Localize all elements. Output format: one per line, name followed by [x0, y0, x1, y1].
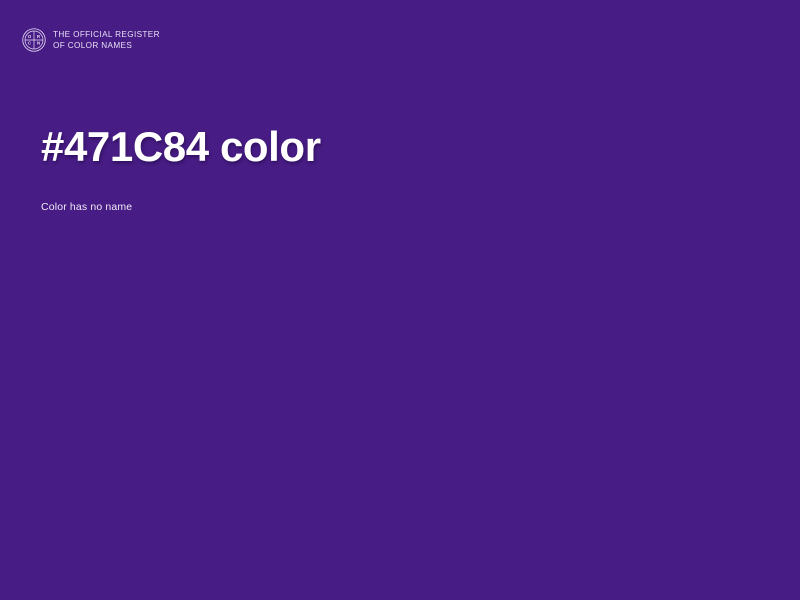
official-register-seal-icon: O R C N: [22, 28, 46, 52]
page-title: #471C84 color: [41, 122, 741, 172]
svg-text:N: N: [37, 41, 40, 46]
brand-line-1: THE OFFICIAL REGISTER: [53, 30, 160, 40]
brand-header[interactable]: O R C N THE OFFICIAL REGISTER OF COLOR N…: [22, 28, 160, 52]
color-page: O R C N THE OFFICIAL REGISTER OF COLOR N…: [0, 0, 800, 600]
svg-text:R: R: [37, 34, 40, 39]
color-name-status: Color has no name: [41, 172, 741, 214]
brand-line-2: OF COLOR NAMES: [53, 41, 160, 51]
color-info-block: #471C84 color Color has no name: [41, 122, 741, 214]
brand-wordmark: THE OFFICIAL REGISTER OF COLOR NAMES: [53, 30, 160, 51]
svg-text:O: O: [28, 34, 32, 39]
svg-text:C: C: [28, 41, 31, 46]
